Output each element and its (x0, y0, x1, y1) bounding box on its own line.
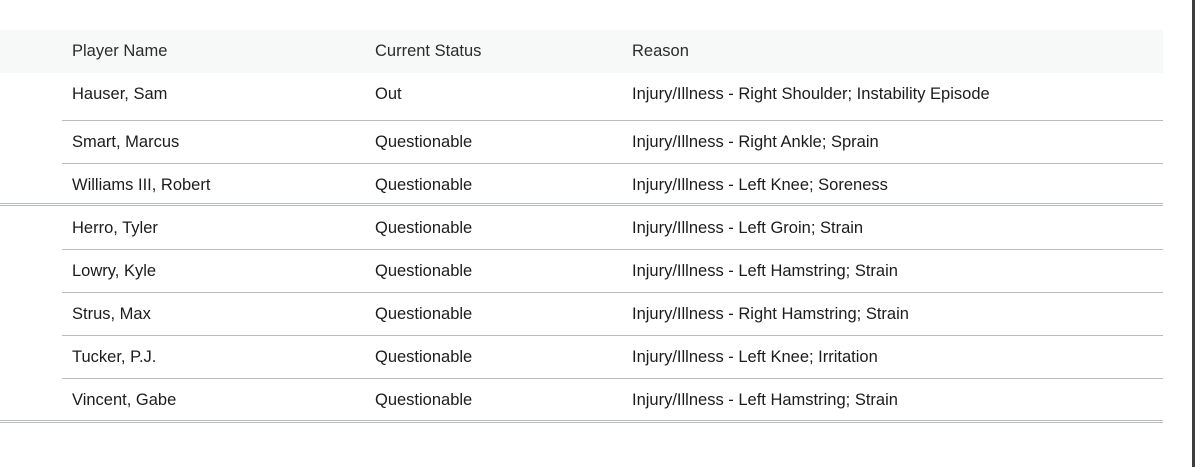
cell-reason: Injury/Illness - Left Hamstring; Strain (632, 250, 1157, 293)
table-row[interactable]: Smart, Marcus Questionable Injury/Illnes… (0, 121, 1163, 164)
column-header-current-status[interactable]: Current Status (375, 30, 625, 73)
cell-current-status: Questionable (375, 121, 625, 164)
section-divider (0, 422, 1163, 423)
cell-player-name: Strus, Max (72, 293, 367, 336)
cell-reason: Injury/Illness - Left Groin; Strain (632, 207, 1157, 250)
cell-current-status: Out (375, 73, 625, 116)
cell-reason: Injury/Illness - Left Knee; Soreness (632, 164, 1157, 207)
table-row[interactable]: Lowry, Kyle Questionable Injury/Illness … (0, 250, 1163, 293)
page-edge-scrollbar[interactable] (1192, 0, 1195, 467)
injury-report-table: Player Name Current Status Reason Hauser… (0, 0, 1200, 467)
cell-current-status: Questionable (375, 336, 625, 379)
table-row[interactable]: Hauser, Sam Out Injury/Illness - Right S… (0, 73, 1163, 116)
cell-current-status: Questionable (375, 250, 625, 293)
cell-player-name: Lowry, Kyle (72, 250, 367, 293)
cell-reason: Injury/Illness - Right Ankle; Sprain (632, 121, 1157, 164)
cell-player-name: Hauser, Sam (72, 73, 367, 116)
cell-reason: Injury/Illness - Left Hamstring; Strain (632, 379, 1157, 422)
cell-reason: Injury/Illness - Left Knee; Irritation (632, 336, 1157, 379)
cell-current-status: Questionable (375, 164, 625, 207)
column-header-player-name[interactable]: Player Name (72, 30, 367, 73)
cell-current-status: Questionable (375, 293, 625, 336)
table-row[interactable]: Strus, Max Questionable Injury/Illness -… (0, 293, 1163, 336)
table-header-row: Player Name Current Status Reason (0, 30, 1163, 73)
cell-current-status: Questionable (375, 207, 625, 250)
table-row[interactable]: Vincent, Gabe Questionable Injury/Illnes… (0, 379, 1163, 422)
table-row[interactable]: Williams III, Robert Questionable Injury… (0, 164, 1163, 207)
cell-player-name: Vincent, Gabe (72, 379, 367, 422)
section-divider (0, 205, 1163, 206)
cell-reason: Injury/Illness - Right Shoulder; Instabi… (632, 73, 1157, 116)
table-row[interactable]: Herro, Tyler Questionable Injury/Illness… (0, 207, 1163, 250)
section-divider (0, 203, 1163, 204)
section-divider (0, 420, 1163, 421)
table-row[interactable]: Tucker, P.J. Questionable Injury/Illness… (0, 336, 1163, 379)
column-header-reason[interactable]: Reason (632, 30, 1157, 73)
cell-current-status: Questionable (375, 379, 625, 422)
cell-player-name: Tucker, P.J. (72, 336, 367, 379)
cell-player-name: Herro, Tyler (72, 207, 367, 250)
cell-player-name: Smart, Marcus (72, 121, 367, 164)
cell-reason: Injury/Illness - Right Hamstring; Strain (632, 293, 1157, 336)
cell-player-name: Williams III, Robert (72, 164, 367, 207)
